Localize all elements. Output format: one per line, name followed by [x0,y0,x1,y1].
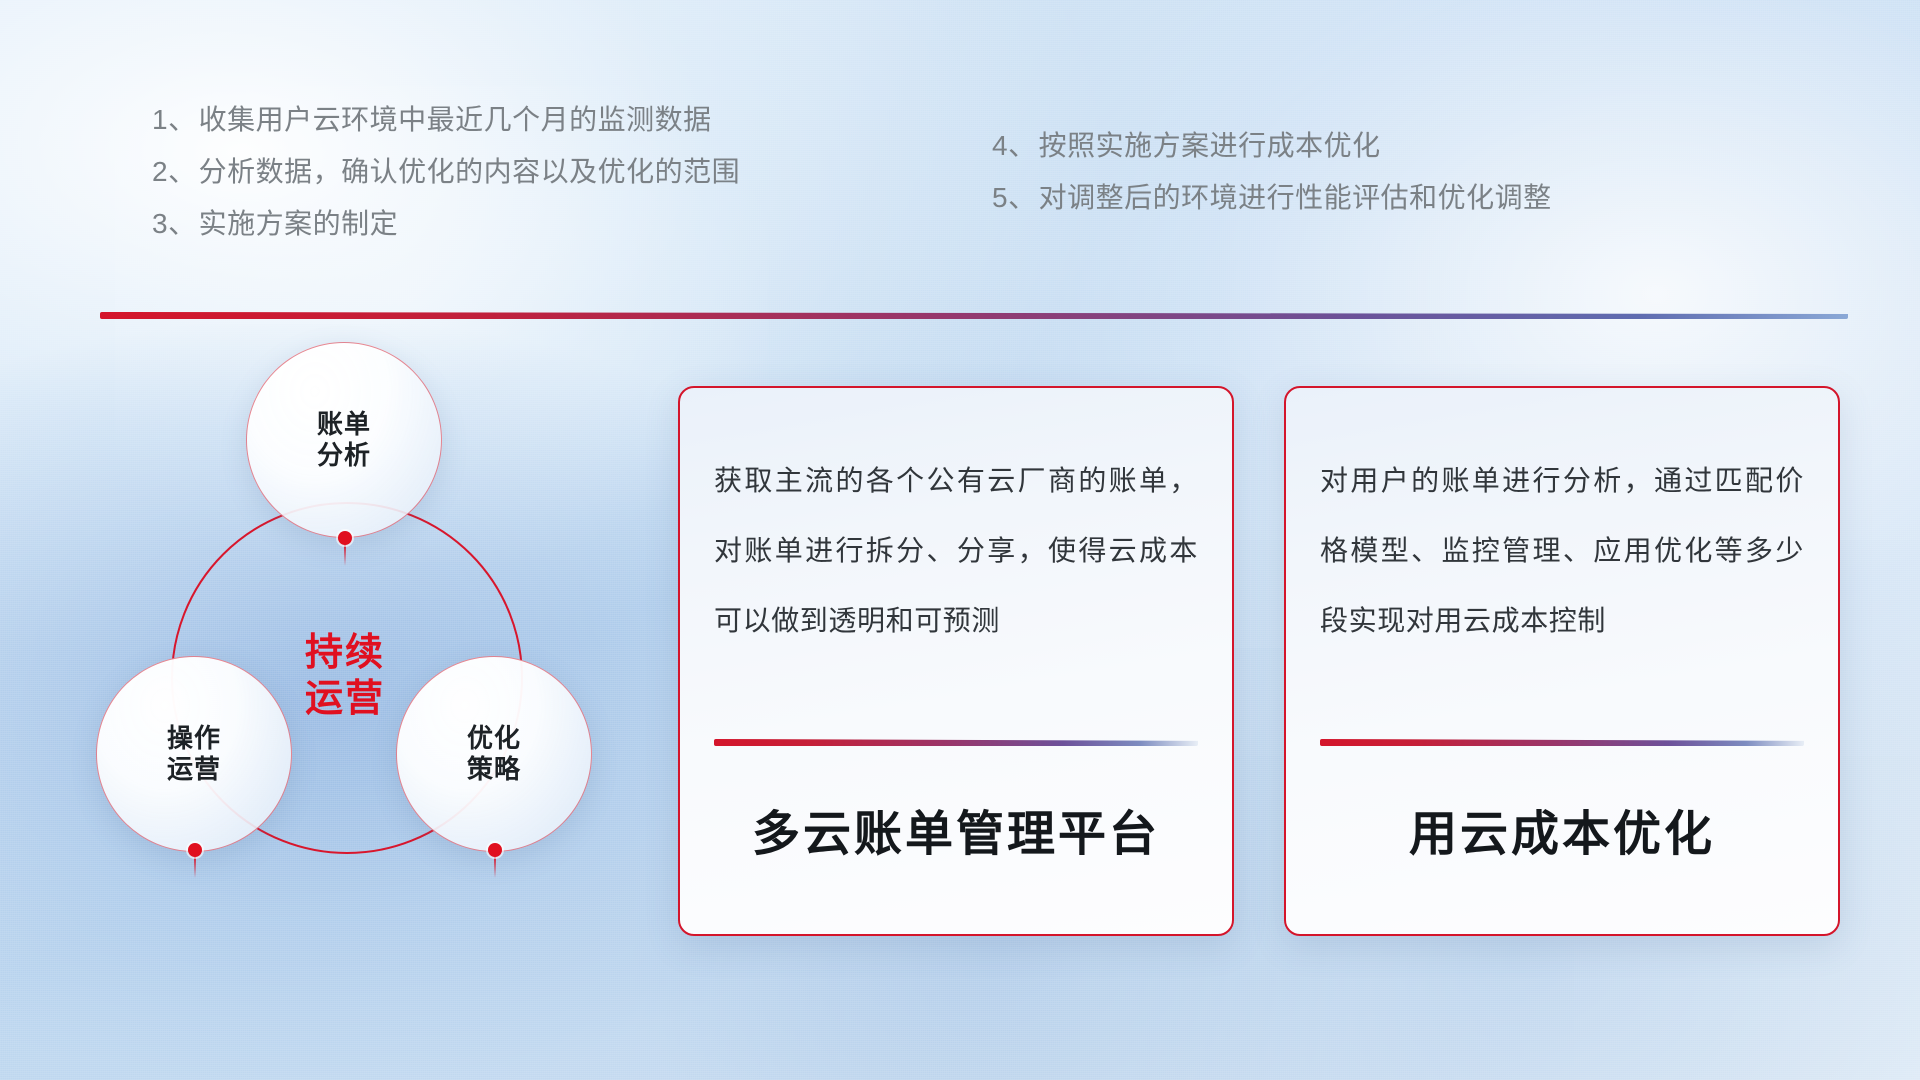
step-number: 3、 [152,198,197,250]
step-text: 实施方案的制定 [199,198,399,250]
step-item: 3、 实施方案的制定 [152,198,740,250]
venn-center-line2: 运营 [305,678,385,720]
venn-label-line1: 账单 [317,409,371,439]
card-description: 获取主流的各个公有云厂商的账单，对账单进行拆分、分享，使得云成本可以做到透明和可… [714,446,1198,656]
venn-connector-tick [344,544,346,566]
steps-right-column: 4、 按照实施方案进行成本优化 5、 对调整后的环境进行性能评估和优化调整 [992,120,1552,224]
venn-connector-tick [194,856,196,878]
step-item: 2、 分析数据，确认优化的内容以及优化的范围 [152,146,740,198]
step-text: 对调整后的环境进行性能评估和优化调整 [1039,172,1552,224]
venn-label-line2: 分析 [317,440,371,470]
card-title: 多云账单管理平台 [680,794,1232,864]
venn-bubble-label: 账单 分析 [317,409,371,470]
step-number: 1、 [152,94,197,146]
step-item: 5、 对调整后的环境进行性能评估和优化调整 [992,172,1552,224]
feature-card-cloud-cost-optimization[interactable]: 对用户的账单进行分析，通过匹配价格模型、监控管理、应用优化等多少段实现对用云成本… [1284,386,1840,936]
step-number: 4、 [992,120,1037,172]
step-text: 按照实施方案进行成本优化 [1039,120,1381,172]
step-number: 5、 [992,172,1037,224]
steps-left-column: 1、 收集用户云环境中最近几个月的监测数据 2、 分析数据，确认优化的内容以及优… [152,94,740,250]
venn-center-line1: 持续 [305,632,385,674]
venn-diagram: 账单 分析 操作 运营 优化 策略 持续 运营 [96,350,636,950]
step-text: 收集用户云环境中最近几个月的监测数据 [199,94,712,146]
feature-card-multi-cloud-billing-platform[interactable]: 获取主流的各个公有云厂商的账单，对账单进行拆分、分享，使得云成本可以做到透明和可… [678,386,1234,936]
step-number: 2、 [152,146,197,198]
card-divider-line [714,739,1198,746]
card-divider-line [1320,739,1804,746]
venn-node-dot [188,843,202,857]
venn-node-dot [338,531,352,545]
step-item: 4、 按照实施方案进行成本优化 [992,120,1552,172]
step-text: 分析数据，确认优化的内容以及优化的范围 [199,146,741,198]
card-title: 用云成本优化 [1286,794,1838,864]
venn-node-dot [488,843,502,857]
step-item: 1、 收集用户云环境中最近几个月的监测数据 [152,94,740,146]
venn-connector-tick [494,856,496,878]
card-description: 对用户的账单进行分析，通过匹配价格模型、监控管理、应用优化等多少段实现对用云成本… [1320,446,1804,656]
